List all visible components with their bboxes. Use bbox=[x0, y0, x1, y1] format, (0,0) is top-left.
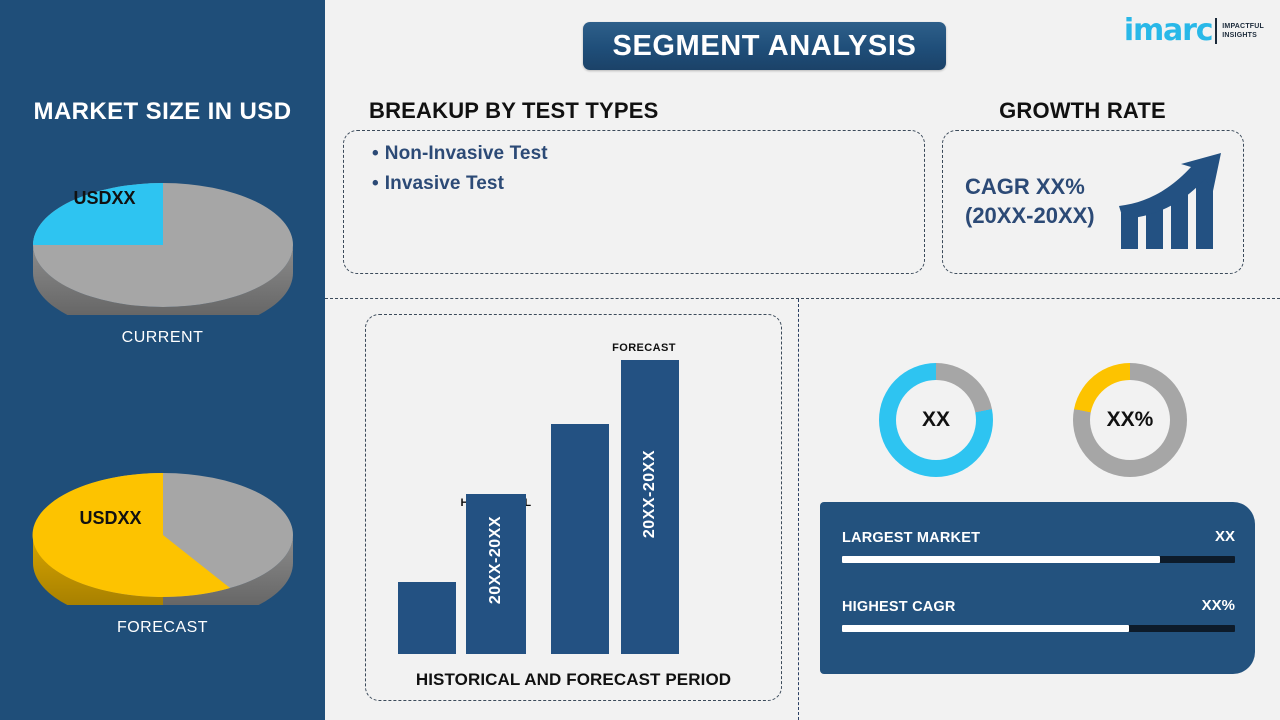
page-title: SEGMENT ANALYSIS bbox=[613, 30, 917, 63]
metric-1-value: XX bbox=[1215, 528, 1235, 545]
donut-chart-2: XX% bbox=[1073, 363, 1187, 477]
vertical-divider bbox=[798, 299, 799, 720]
donut-2-hole: XX% bbox=[1090, 380, 1170, 460]
logo-tagline: IMPACTFUL INSIGHTS bbox=[1222, 22, 1264, 41]
pie-forecast-svg bbox=[28, 440, 298, 605]
main-panel: SEGMENT ANALYSIS imarc IMPACTFUL INSIGHT… bbox=[325, 0, 1280, 720]
logo-divider bbox=[1215, 18, 1217, 44]
market-size-current-block: USDXX CURRENT bbox=[0, 150, 325, 347]
metric-highest-cagr: HIGHEST CAGR XX% bbox=[842, 599, 1235, 632]
breakup-list: •Non-Invasive Test •Invasive Test bbox=[372, 143, 548, 203]
donut-1-hole: XX bbox=[896, 380, 976, 460]
sidebar: MARKET SIZE IN USD USDXX bbox=[0, 0, 325, 720]
logo-tagline-line2: INSIGHTS bbox=[1222, 31, 1264, 40]
breakup-box: •Non-Invasive Test •Invasive Test bbox=[343, 130, 925, 274]
cagr-period: (20XX-20XX) bbox=[965, 202, 1095, 231]
pie-forecast-caption: FORECAST bbox=[0, 619, 325, 637]
breakup-heading: BREAKUP BY TEST TYPES bbox=[369, 98, 658, 124]
bars-stage: HISTORICAL 20XX-20XX FORECAST 20XX-20XX … bbox=[366, 315, 781, 700]
bar-3 bbox=[551, 424, 609, 654]
metric-1-fill bbox=[842, 556, 1160, 563]
metric-2-label: HIGHEST CAGR bbox=[842, 599, 956, 615]
metric-2-fill bbox=[842, 625, 1129, 632]
metric-largest-market: LARGEST MARKET XX bbox=[842, 530, 1235, 563]
infographic-canvas: MARKET SIZE IN USD USDXX bbox=[0, 0, 1280, 720]
metric-1-label: LARGEST MARKET bbox=[842, 530, 980, 546]
bar-2: 20XX-20XX bbox=[466, 494, 526, 654]
pie-current-caption: CURRENT bbox=[0, 329, 325, 347]
pie-chart-forecast: USDXX bbox=[28, 440, 298, 605]
donut-1-value: XX bbox=[922, 408, 950, 432]
donut-chart-1: XX bbox=[879, 363, 993, 477]
bar-4-label: 20XX-20XX bbox=[641, 450, 659, 538]
metric-2-row: HIGHEST CAGR XX% bbox=[842, 599, 1235, 621]
list-item: •Non-Invasive Test bbox=[372, 143, 548, 165]
metric-1-track bbox=[842, 556, 1235, 563]
bar-1 bbox=[398, 582, 456, 654]
key-metrics-panel: LARGEST MARKET XX HIGHEST CAGR XX% bbox=[820, 502, 1255, 674]
imarc-logo: imarc IMPACTFUL INSIGHTS bbox=[1124, 12, 1264, 50]
list-item-label: Non-Invasive Test bbox=[385, 143, 548, 164]
logo-tagline-line1: IMPACTFUL bbox=[1222, 22, 1264, 31]
historical-forecast-chart: HISTORICAL 20XX-20XX FORECAST 20XX-20XX … bbox=[365, 314, 782, 701]
horizontal-divider bbox=[325, 298, 1280, 299]
cagr-value: CAGR XX% bbox=[965, 173, 1095, 202]
pie-chart-current: USDXX bbox=[28, 150, 298, 315]
growth-arrow-bars-icon bbox=[1117, 151, 1227, 256]
growth-box: CAGR XX% (20XX-20XX) bbox=[942, 130, 1244, 274]
list-item-label: Invasive Test bbox=[385, 173, 504, 194]
bar-2-label: 20XX-20XX bbox=[487, 516, 505, 604]
growth-heading: GROWTH RATE bbox=[930, 98, 1235, 124]
list-item: •Invasive Test bbox=[372, 173, 548, 195]
bullet-icon: • bbox=[372, 143, 379, 164]
pie-current-svg bbox=[28, 150, 298, 315]
market-size-forecast-block: USDXX FORECAST bbox=[0, 440, 325, 637]
metric-1-row: LARGEST MARKET XX bbox=[842, 530, 1235, 552]
logo-wordmark: imarc bbox=[1124, 16, 1212, 46]
page-title-banner: SEGMENT ANALYSIS bbox=[583, 22, 946, 70]
bar-4-top-label: FORECAST bbox=[604, 342, 684, 354]
metric-2-value: XX% bbox=[1202, 597, 1235, 614]
bar-4: 20XX-20XX bbox=[621, 360, 679, 654]
cagr-text: CAGR XX% (20XX-20XX) bbox=[965, 173, 1095, 230]
sidebar-title: MARKET SIZE IN USD bbox=[0, 98, 325, 126]
bullet-icon: • bbox=[372, 173, 379, 194]
donut-2-value: XX% bbox=[1107, 408, 1154, 432]
metric-2-track bbox=[842, 625, 1235, 632]
bars-caption: HISTORICAL AND FORECAST PERIOD bbox=[366, 670, 781, 690]
